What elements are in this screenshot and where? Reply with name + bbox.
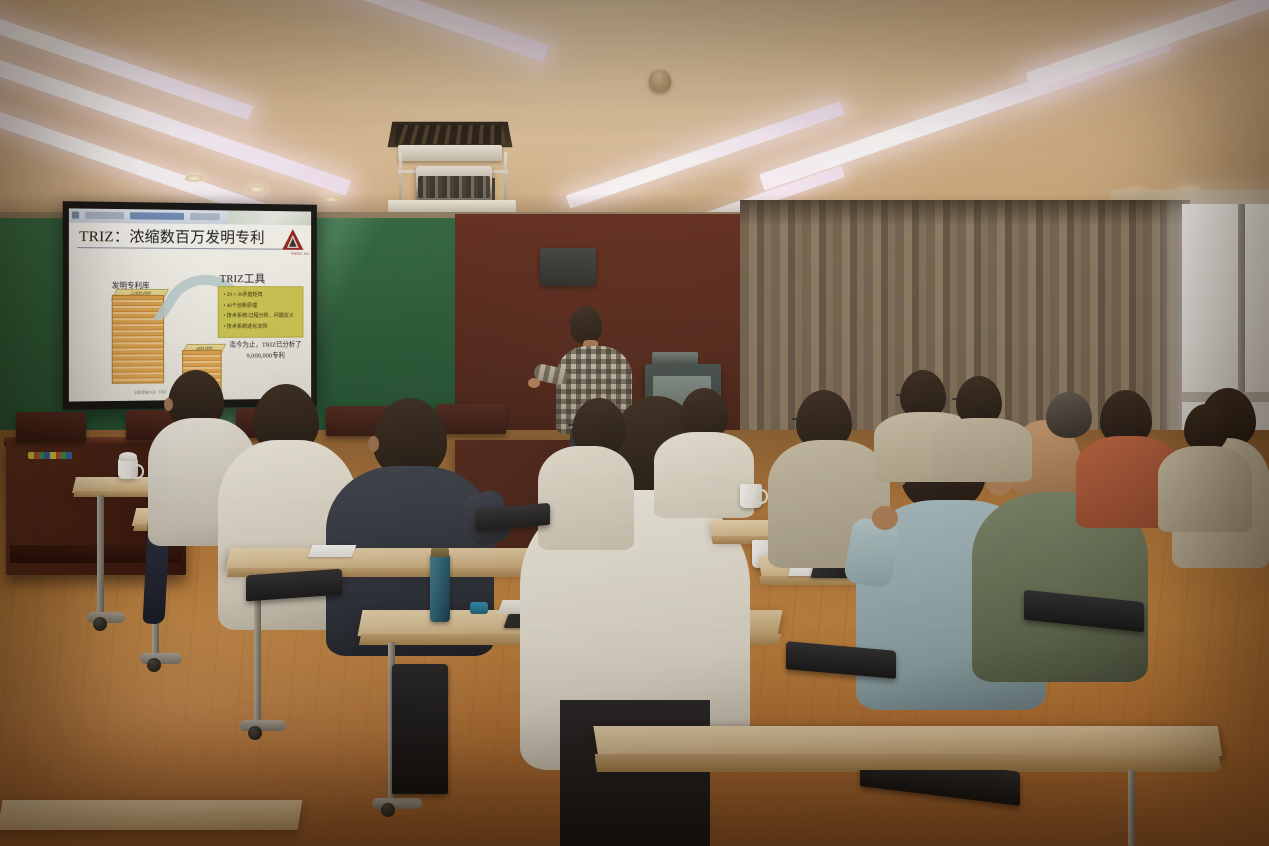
presenter-glasses-icon [568, 320, 582, 322]
mug-lid[interactable] [119, 452, 137, 461]
attendee-trousers [560, 700, 710, 846]
attendee-head [1046, 392, 1092, 438]
attendee-ear [368, 436, 379, 452]
attendee-head [1184, 404, 1228, 452]
desk-foreground-edge [595, 754, 1222, 770]
thermos-cap[interactable] [431, 548, 449, 557]
ceiling [0, 0, 1269, 232]
attendee-glasses-icon [792, 418, 805, 420]
attendee-glasses-icon [896, 394, 908, 396]
projector-ceiling-well [388, 122, 513, 147]
attendee-shirt [538, 446, 634, 550]
desk-leg [97, 495, 104, 615]
desk-caster [93, 617, 107, 631]
desk-caster [248, 726, 262, 740]
attendee-shirt [932, 418, 1032, 482]
triz-tool-bullet: 技术系统进化法则 [224, 321, 301, 332]
desk-leg [1128, 766, 1135, 846]
podium-control-buttons[interactable] [28, 452, 72, 459]
desk-caster [381, 803, 395, 817]
presenter-hand [528, 378, 540, 388]
toolbar-chip [190, 213, 220, 220]
desk-caster [147, 658, 161, 672]
triz-tool-bullet: 39 × 39矛盾矩阵 [224, 290, 301, 301]
desk-foot [240, 720, 286, 731]
attendee-ear [164, 398, 173, 411]
classroom-photo: TRIZ：浓缩数百万发明专利 PaTeC Inc 发明专利库 2,000,000… [0, 0, 1269, 846]
small-blue-cup[interactable] [470, 602, 488, 614]
wall-speaker [540, 248, 596, 286]
toolbar-chip [72, 211, 79, 218]
attendee-glasses-icon [952, 398, 964, 400]
logo-caption: PaTeC Inc [292, 252, 310, 256]
triangle-a-logo [280, 227, 305, 253]
slide-note: 迄今为止，TRIZ已分析了9,000,000专利 [222, 339, 310, 361]
front-chair[interactable] [16, 412, 86, 442]
attendee-glasses-icon [568, 424, 580, 426]
triz-tool-bullet: 技术系统/过程分析、问题定义 [224, 311, 301, 322]
triz-tool-bullet: 40个创新原理 [224, 301, 301, 311]
recessed-downlight [248, 186, 266, 193]
front-chair[interactable] [436, 404, 506, 434]
triz-tools-heading: TRIZ工具 [220, 270, 265, 286]
toolbar-chip [130, 212, 184, 220]
smoke-detector-icon [649, 70, 671, 92]
attendee-shirt [1158, 446, 1252, 532]
projector-lift-plate [398, 145, 502, 161]
slide-title-rule [77, 247, 303, 250]
paper-sheet[interactable] [308, 545, 357, 557]
desk-foreground-left [0, 800, 302, 830]
mug[interactable] [118, 459, 138, 479]
recessed-downlight [185, 175, 203, 182]
desk-foreground [594, 726, 1223, 756]
attendee-hand [872, 506, 898, 530]
slide-footer: 创新思维方法 · TRIZ [134, 390, 167, 395]
mug[interactable] [740, 484, 762, 508]
slide-title: TRIZ：浓缩数百万发明专利 [79, 225, 265, 248]
attendee-shirt [654, 432, 754, 518]
presenter-head [570, 306, 602, 344]
classroom-chair[interactable] [392, 664, 448, 794]
toolbar-chip [85, 212, 124, 220]
powerpoint-toolbar [69, 208, 311, 225]
thermos-blue[interactable] [430, 554, 450, 622]
slide-photo-banner [228, 210, 312, 225]
desk-foot [372, 798, 422, 809]
curtain-top-shadow [740, 200, 1190, 226]
triz-tools-box: 39 × 39矛盾矩阵 40个创新原理 技术系统/过程分析、问题定义 技术系统进… [218, 286, 304, 338]
